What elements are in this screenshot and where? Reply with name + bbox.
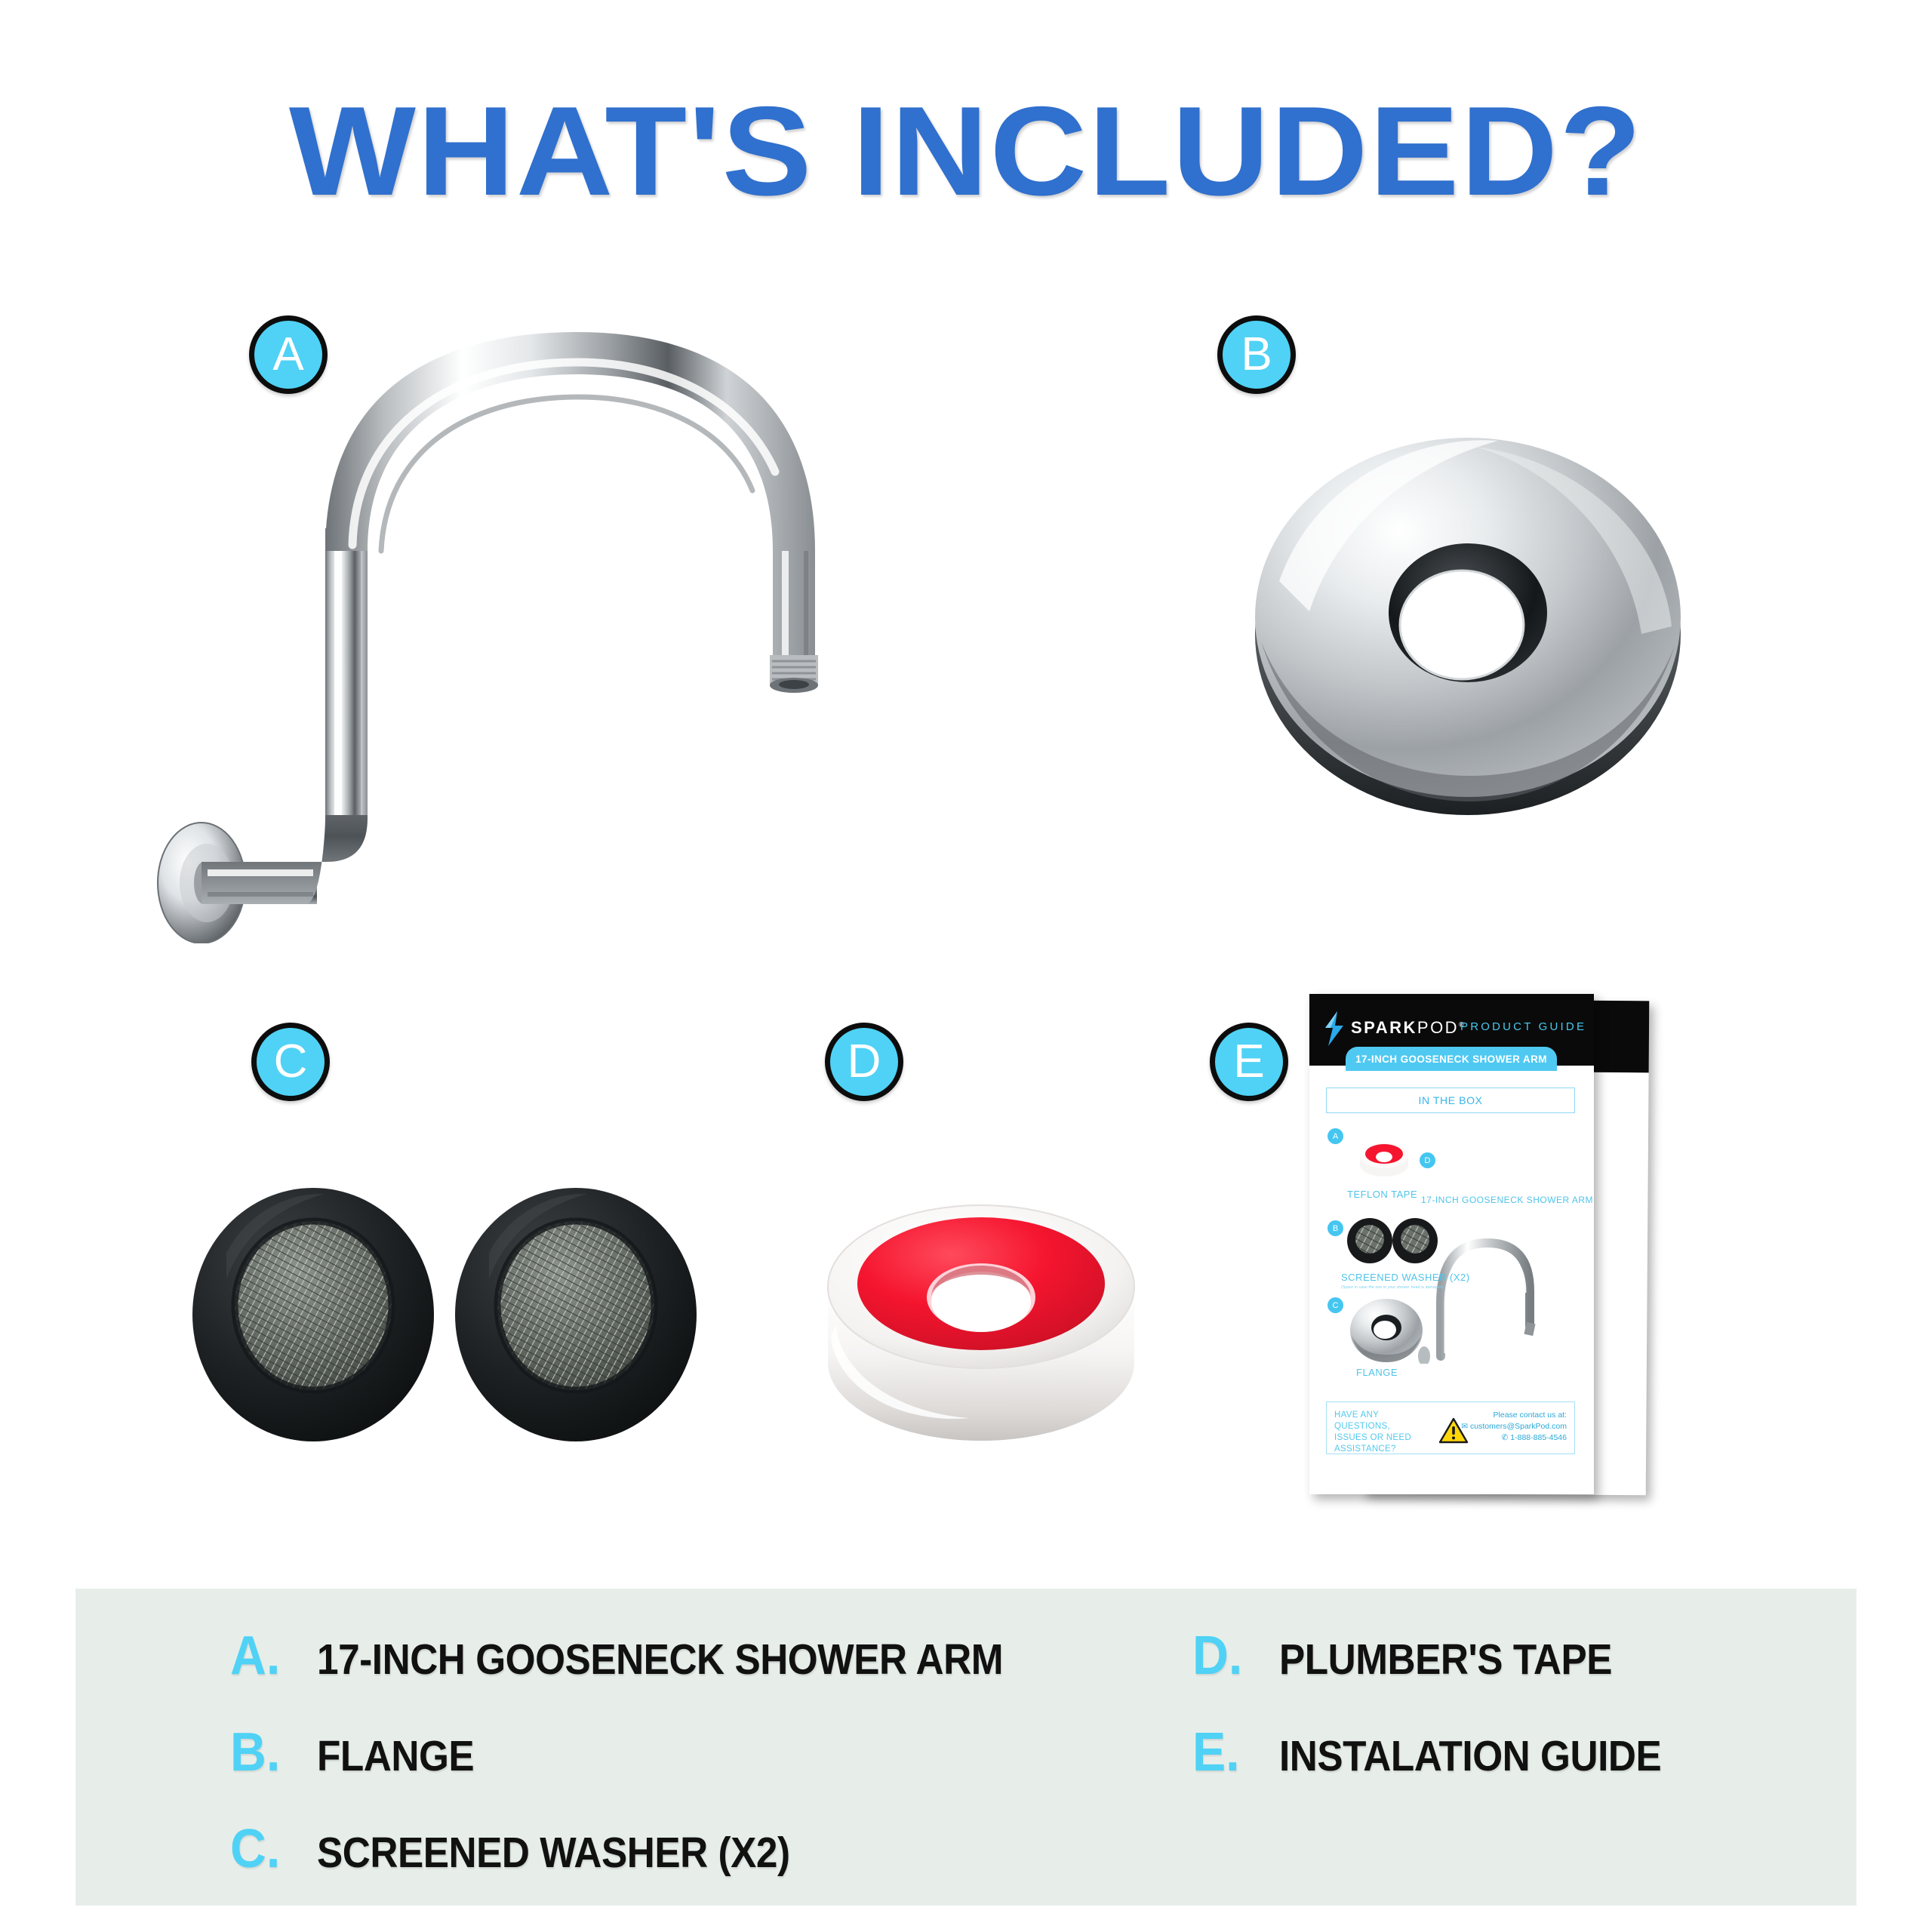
guide-badge-d: D	[1420, 1152, 1435, 1168]
guide-caption-b: SCREENED WASHER (X2)	[1341, 1272, 1470, 1283]
envelope-icon: ✉	[1461, 1422, 1468, 1431]
guide-header-bar: SPARKPOD® PRODUCT GUIDE 17-INCH GOOSENEC…	[1309, 994, 1594, 1066]
legend-label-d: PLUMBER'S TAPE	[1279, 1635, 1612, 1684]
badge-e-letter: E	[1233, 1038, 1264, 1085]
contact-intro: Please contact us at:	[1494, 1411, 1567, 1420]
legend-label-e: INSTALATION GUIDE	[1279, 1731, 1661, 1781]
guide-badge-a: A	[1327, 1128, 1343, 1144]
legend-label-c: SCREENED WASHER (X2)	[317, 1828, 790, 1878]
guide-caption-d: 17-INCH GOOSENECK SHOWER ARM	[1421, 1195, 1593, 1205]
contact-question: HAVE ANY QUESTIONS, ISSUES OR NEED ASSIS…	[1334, 1410, 1425, 1455]
badge-b: B	[1217, 315, 1296, 394]
page-title: WHAT'S INCLUDED?	[0, 78, 1932, 224]
badge-c: C	[251, 1023, 330, 1101]
contact-details: Please contact us at: ✉ customers@SparkP…	[1427, 1410, 1567, 1444]
guide-contact-box: HAVE ANY QUESTIONS, ISSUES OR NEED ASSIS…	[1326, 1401, 1575, 1454]
badge-b-letter: B	[1241, 331, 1272, 378]
guide-subcaption-b: (Spare in case the one in your shower he…	[1341, 1285, 1444, 1290]
phone-icon: ✆	[1502, 1433, 1509, 1442]
legend-label-b: FLANGE	[317, 1731, 474, 1781]
legend-letter-c: C.	[230, 1818, 310, 1880]
guide-badge-b: B	[1327, 1220, 1343, 1236]
sparkpod-bolt-icon	[1323, 1011, 1346, 1047]
legend-letter-d: D.	[1192, 1625, 1272, 1687]
legend-letter-e: E.	[1192, 1721, 1272, 1783]
legend-letter-b: B.	[230, 1721, 310, 1783]
legend-column-left: A. 17-INCH GOOSENECK SHOWER ARM B. FLANG…	[230, 1625, 1079, 1915]
legend-item-d: D. PLUMBER'S TAPE	[1192, 1625, 1704, 1682]
badge-e: E	[1210, 1023, 1288, 1101]
legend-label-a: 17-INCH GOOSENECK SHOWER ARM	[317, 1635, 1003, 1684]
installation-guide-sheets-photo: ter Valves damaged. Check again for wate…	[1283, 974, 1826, 1524]
guide-caption-c: FLANGE	[1356, 1367, 1398, 1378]
legend-column-right: D. PLUMBER'S TAPE E. INSTALATION GUIDE	[1192, 1625, 1704, 1818]
legend-item-e: E. INSTALATION GUIDE	[1192, 1721, 1704, 1779]
contact-phone: 1-888-885-4546	[1510, 1433, 1567, 1442]
chrome-flange-photo	[1249, 408, 1687, 823]
guide-teflon-tape-icon	[1356, 1131, 1412, 1178]
legend-item-a: A. 17-INCH GOOSENECK SHOWER ARM	[230, 1625, 1079, 1682]
badge-d-letter: D	[848, 1038, 881, 1085]
in-the-box-header: IN THE BOX	[1326, 1088, 1575, 1113]
legend-item-b: B. FLANGE	[230, 1721, 1079, 1779]
product-guide-label: PRODUCT GUIDE	[1460, 1020, 1586, 1033]
screened-washer-pair-photo	[185, 1185, 706, 1449]
plumbers-tape-roll-photo	[819, 1136, 1143, 1453]
guide-caption-a: TEFLON TAPE	[1347, 1189, 1417, 1200]
legend-panel: A. 17-INCH GOOSENECK SHOWER ARM B. FLANG…	[75, 1589, 1857, 1906]
guide-product-pill: 17-INCH GOOSENECK SHOWER ARM	[1346, 1047, 1557, 1071]
guide-washers-icon	[1346, 1217, 1438, 1264]
brand-part-1: SPARK	[1351, 1018, 1417, 1037]
guide-badge-c: C	[1327, 1297, 1343, 1313]
badge-c-letter: C	[274, 1038, 308, 1085]
guide-sheet-front: SPARKPOD® PRODUCT GUIDE 17-INCH GOOSENEC…	[1309, 994, 1594, 1494]
badge-d: D	[825, 1023, 903, 1101]
legend-item-c: C. SCREENED WASHER (X2)	[230, 1818, 1079, 1875]
contact-email: customers@SparkPod.com	[1470, 1422, 1567, 1431]
brand-part-2: POD	[1417, 1018, 1459, 1037]
guide-flange-icon	[1349, 1294, 1424, 1362]
legend-letter-a: A.	[230, 1625, 310, 1687]
gooseneck-shower-arm-photo	[132, 302, 940, 943]
brand-name: SPARKPOD®	[1351, 1018, 1466, 1038]
